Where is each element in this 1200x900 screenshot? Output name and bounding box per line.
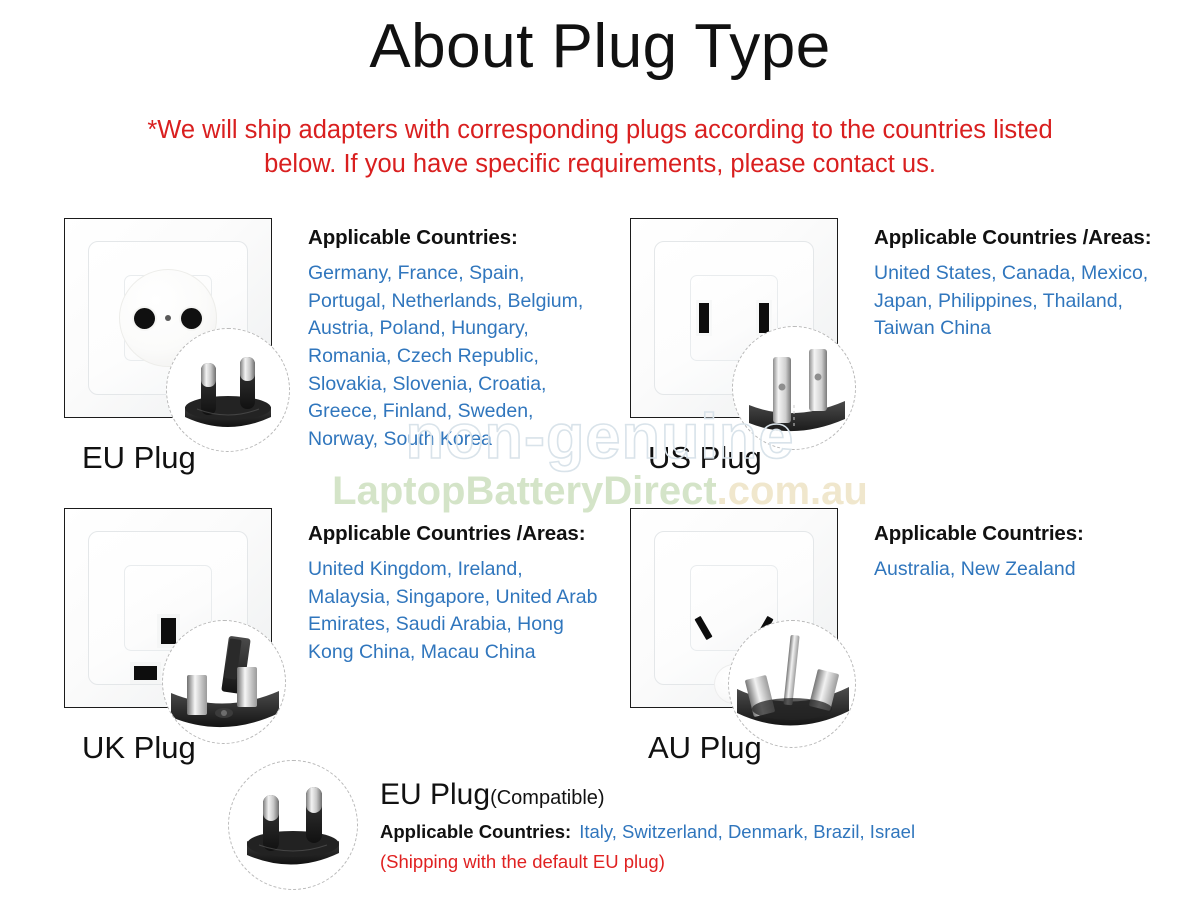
- eu-center-dot: [165, 315, 171, 321]
- countries-heading-uk: Applicable Countries /Areas:: [308, 522, 608, 546]
- countries-heading-us: Applicable Countries /Areas:: [874, 226, 1174, 250]
- eu-plug-closeup-icon: [166, 328, 290, 452]
- countries-heading-eu: Applicable Countries:: [308, 226, 598, 250]
- au-socket-illustration: [624, 508, 846, 720]
- eu-plug-closeup-icon: [228, 760, 358, 890]
- countries-block-us: Applicable Countries /Areas: United Stat…: [874, 226, 1174, 343]
- uk-socket-illustration: [58, 508, 280, 720]
- compatible-countries-line: Applicable Countries:Italy, Switzerland,…: [380, 821, 980, 843]
- plug-card-au: AU Plug: [624, 508, 846, 763]
- shipping-note: *We will ship adapters with correspondin…: [60, 114, 1140, 181]
- uk-slot-right: [134, 666, 157, 680]
- eu-hole-right: [181, 308, 202, 329]
- countries-block-au: Applicable Countries: Australia, New Zea…: [874, 522, 1174, 584]
- compatible-plug-title-main: EU Plug: [380, 778, 490, 811]
- au-slot-right: [695, 616, 713, 640]
- countries-list-us: United States, Canada, Mexico, Japan, Ph…: [874, 260, 1174, 343]
- plug-card-us: US Plug: [624, 218, 846, 473]
- watermark-site-name: LaptopBatteryDirect: [332, 469, 717, 513]
- compatible-plug-block: EU Plug(Compatible) Applicable Countries…: [228, 758, 988, 888]
- shipping-note-line-1: *We will ship adapters with correspondin…: [60, 114, 1140, 148]
- countries-list-eu: Germany, France, Spain, Portugal, Nether…: [308, 260, 598, 454]
- compatible-plug-title: EU Plug(Compatible): [380, 780, 980, 810]
- uk-earth-slot: [161, 618, 176, 644]
- uk-plug-closeup-icon: [162, 620, 286, 744]
- compatible-countries-heading: Applicable Countries:: [380, 821, 571, 842]
- plug-type-infographic: About Plug Type *We will ship adapters w…: [0, 0, 1200, 900]
- us-socket-illustration: [624, 218, 846, 430]
- compatible-shipping-note: (Shipping with the default EU plug): [380, 851, 980, 873]
- watermark-site: LaptopBatteryDirect.com.au: [0, 470, 1200, 512]
- countries-block-uk: Applicable Countries /Areas: United King…: [308, 522, 608, 667]
- countries-block-eu: Applicable Countries: Germany, France, S…: [308, 226, 598, 454]
- plug-card-eu: EU Plug: [58, 218, 280, 473]
- compatible-countries-list: Italy, Switzerland, Denmark, Brazil, Isr…: [579, 821, 915, 842]
- watermark-site-tld: .com.au: [717, 469, 868, 513]
- countries-list-uk: United Kingdom, Ireland, Malaysia, Singa…: [308, 556, 608, 667]
- compatible-plug-text: EU Plug(Compatible) Applicable Countries…: [380, 780, 980, 873]
- us-slot-right: [699, 303, 709, 333]
- au-plug-closeup-icon: [728, 620, 856, 748]
- countries-list-au: Australia, New Zealand: [874, 556, 1174, 584]
- eu-hole-left: [134, 308, 155, 329]
- page-title: About Plug Type: [0, 14, 1200, 79]
- us-slot-left: [759, 303, 769, 333]
- plug-card-uk: UK Plug: [58, 508, 280, 763]
- us-plug-closeup-icon: [732, 326, 856, 450]
- shipping-note-line-2: below. If you have specific requirements…: [60, 148, 1140, 182]
- countries-heading-au: Applicable Countries:: [874, 522, 1174, 546]
- compatible-plug-title-suffix: (Compatible): [490, 787, 604, 809]
- eu-socket-illustration: [58, 218, 280, 430]
